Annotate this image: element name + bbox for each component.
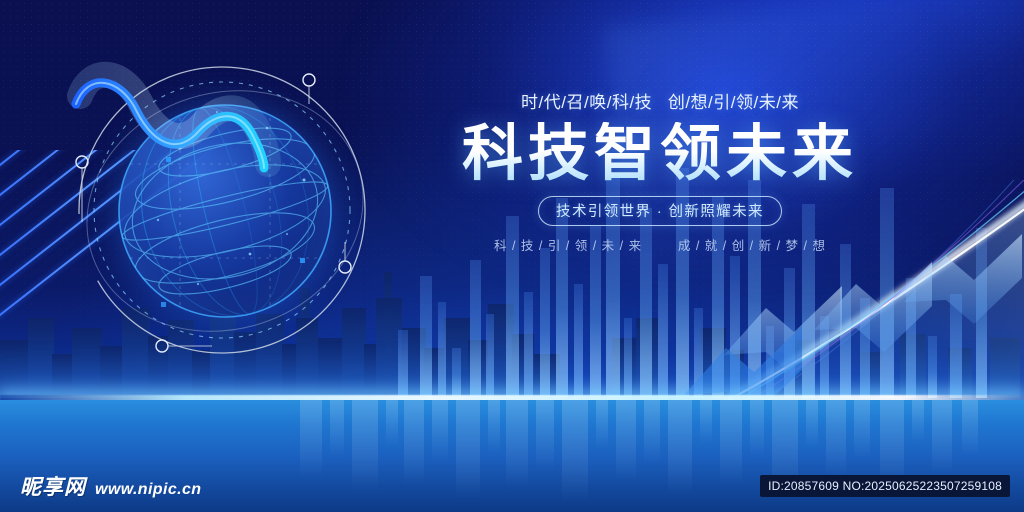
logo-url: www.nipic.cn [95, 481, 201, 499]
watermark-bar: 昵享网 www.nipic.cn ID:20857609 NO:20250625… [0, 460, 1024, 512]
site-logo[interactable]: 昵享网 www.nipic.cn [20, 471, 201, 501]
poster-canvas: 时/代/召/唤/科/技 创/想/引/领/未/来 科技智领未来 技术引领世界 · … [0, 0, 1024, 512]
wireframe-globe [62, 52, 382, 372]
headline-block: 时/代/召/唤/科/技 创/想/引/领/未/来 科技智领未来 技术引领世界 · … [400, 88, 920, 254]
slogan-pill: 技术引领世界 · 创新照耀未来 [538, 196, 782, 226]
page-title: 科技智领未来 [400, 122, 920, 185]
logo-mark: 昵享网 [20, 471, 86, 501]
sub-slogan-text: 科 / 技 / 引 / 领 / 未 / 来 成 / 就 / 创 / 新 / 梦 … [400, 235, 920, 254]
eyebrow-text: 时/代/召/唤/科/技 创/想/引/领/未/来 [400, 88, 920, 113]
asset-id-badge: ID:20857609 NO:20250625223507259108 [760, 475, 1010, 497]
data-wave-ribbon [62, 52, 292, 182]
